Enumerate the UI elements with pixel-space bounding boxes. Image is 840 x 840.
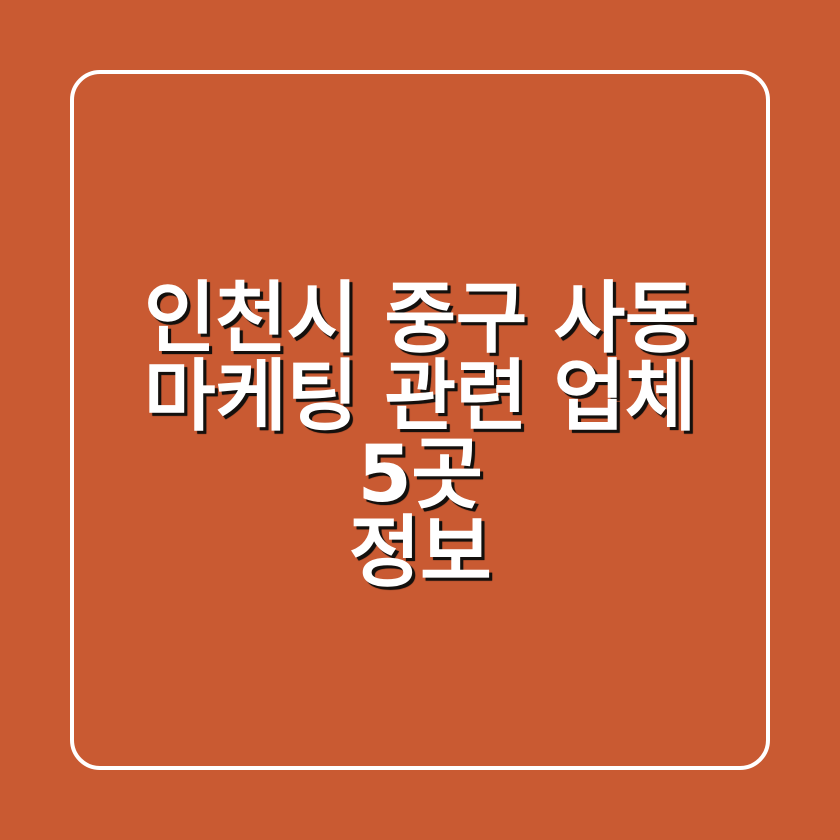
title-block: 인천시 중구 사동 마케팅 관련 업체 5곳 정보: [70, 280, 770, 592]
page-title: 인천시 중구 사동 마케팅 관련 업체 5곳 정보: [90, 280, 750, 592]
thumbnail-card: 인천시 중구 사동 마케팅 관련 업체 5곳 정보: [0, 0, 840, 840]
title-line-2: 마케팅 관련 업체 5곳: [90, 358, 750, 514]
title-line-3: 정보: [90, 514, 750, 592]
title-line-1: 인천시 중구 사동: [90, 280, 750, 358]
